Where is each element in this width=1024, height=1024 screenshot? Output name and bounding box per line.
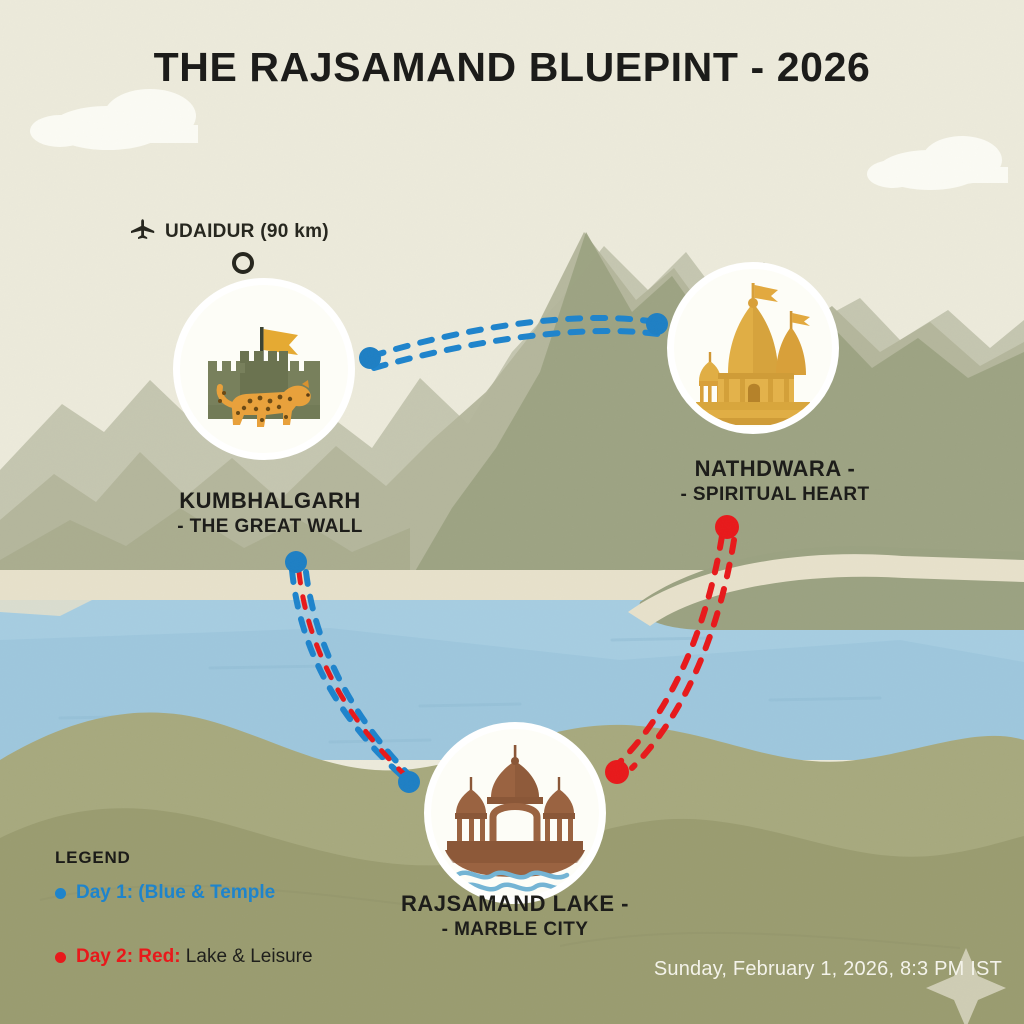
poi-title-kumbhalgarh: KUMBHALGARH — [70, 487, 470, 515]
legend-day2-accent: Day 2: Red: — [76, 946, 181, 967]
legend-bullet-day1 — [55, 888, 66, 899]
fort-leopard-icon — [180, 285, 348, 453]
timestamp: Sunday, February 1, 2026, 8:3 PM IST — [654, 958, 1002, 981]
route-dot-nathdwara-a — [646, 313, 668, 335]
route-dot-lake-blue — [398, 771, 420, 793]
legend-item-day2: Day 2: Red: Lake & Leisure — [55, 946, 435, 968]
legend-day1-accent: Day 1: (Blue & Temple — [76, 882, 275, 903]
poi-caption-kumbhalgarh: KUMBHALGARH - THE GREAT WALL — [70, 487, 470, 539]
infographic-poster: THE RAJSAMAND BLUEPINT - 2026 UDAIDUR (9… — [0, 0, 1024, 1024]
pavilion-boat-icon — [431, 729, 599, 897]
page-title: THE RAJSAMAND BLUEPINT - 2026 — [0, 44, 1024, 91]
legend-label-day1: Day 1: (Blue & Temple — [76, 882, 275, 904]
legend-bullet-day2 — [55, 952, 66, 963]
poi-subtitle-nathdwara: - SPIRITUAL HEART — [575, 483, 975, 507]
legend-title: LEGEND — [55, 848, 435, 868]
poi-caption-nathdwara: NATHDWARA - - SPIRITUAL HEART — [575, 455, 975, 507]
airport-label: UDAIDUR (90 km) — [165, 221, 329, 243]
route-dot-kumbhalgarh-b — [285, 551, 307, 573]
poi-marker-kumbhalgarh[interactable] — [173, 278, 355, 460]
hindu-temple-icon — [674, 269, 832, 427]
poi-marker-rajsamand-lake[interactable] — [424, 722, 606, 904]
legend-day2-rest: Lake & Leisure — [181, 946, 313, 967]
poi-subtitle-kumbhalgarh: - THE GREAT WALL — [70, 515, 470, 539]
airport-marker: UDAIDUR (90 km) — [130, 218, 329, 245]
legend: LEGEND Day 1: (Blue & Temple Day 2: Red:… — [55, 848, 435, 1010]
poi-title-nathdwara: NATHDWARA - — [575, 455, 975, 483]
route-dot-kumbhalgarh-a — [359, 347, 381, 369]
airplane-icon — [130, 218, 156, 245]
route-dot-nathdwara-b — [715, 515, 739, 539]
legend-item-day1: Day 1: (Blue & Temple — [55, 882, 435, 904]
poi-marker-nathdwara[interactable] — [667, 262, 839, 434]
airport-ring-marker — [232, 252, 254, 274]
legend-label-day2: Day 2: Red: Lake & Leisure — [76, 946, 313, 968]
route-dot-lake-red — [605, 760, 629, 784]
